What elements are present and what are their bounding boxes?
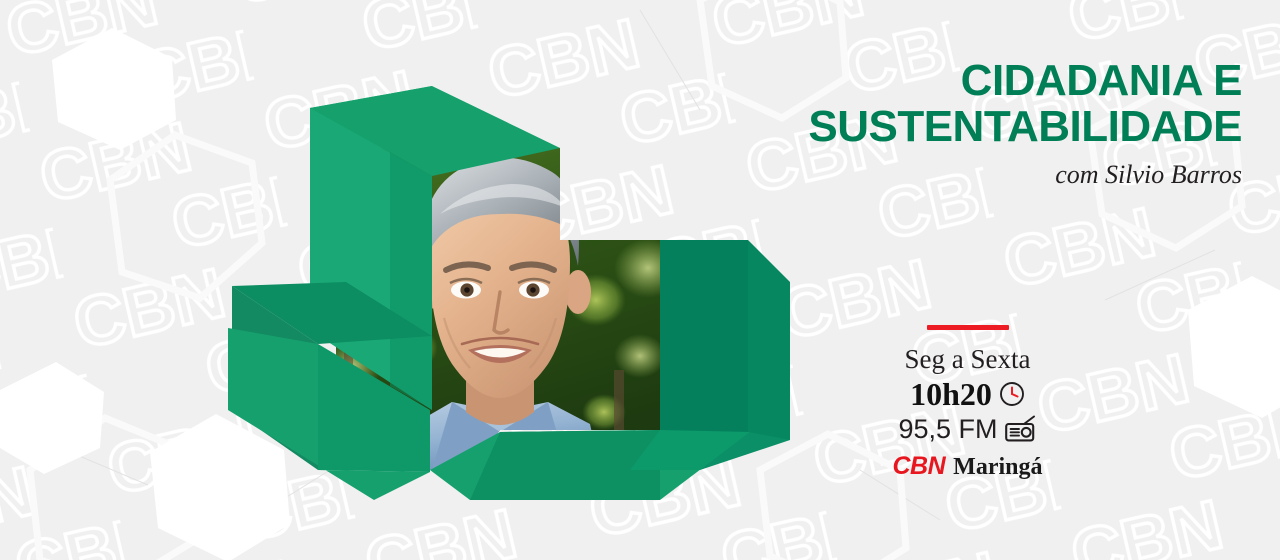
program-host-subtitle: com Silvio Barros [808, 160, 1242, 190]
schedule-time-row: 10h20 [880, 377, 1055, 411]
program-banner: CBN CBN [0, 0, 1280, 560]
page-title-line1: CIDADANIA E [808, 58, 1242, 104]
page-title-line2: SUSTENTABILIDADE [808, 104, 1242, 150]
clock-icon [999, 381, 1025, 407]
schedule-days: Seg a Sexta [880, 344, 1055, 374]
radio-icon [1005, 416, 1037, 442]
station-logo: CBN Maringá [880, 453, 1055, 480]
station-city: Maringá [953, 454, 1042, 480]
cube-face-right-front [660, 240, 748, 432]
station-name: CBN [893, 453, 946, 479]
schedule-frequency-row: 95,5 FM [880, 414, 1055, 444]
schedule-block: Seg a Sexta 10h20 95,5 FM CBN Maringá [880, 325, 1055, 480]
schedule-divider-rule [927, 325, 1009, 330]
schedule-time: 10h20 [910, 377, 992, 411]
schedule-frequency: 95,5 FM [898, 414, 997, 444]
program-title-block: CIDADANIA E SUSTENTABILIDADE com Silvio … [808, 58, 1242, 190]
